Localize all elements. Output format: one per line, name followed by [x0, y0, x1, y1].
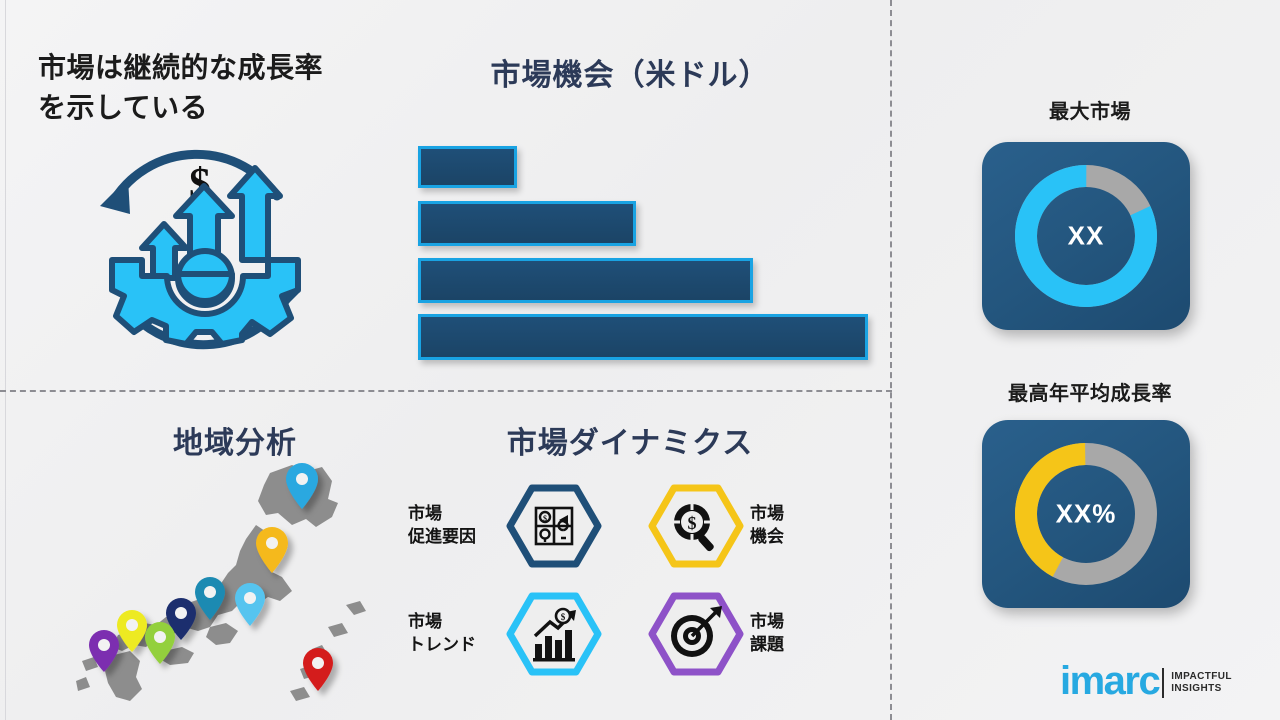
pin-okinawa: [303, 648, 333, 691]
highest-cagr-value: XX%: [982, 499, 1190, 530]
dynamics-item-trends[interactable]: 市場 トレンド $: [408, 592, 602, 676]
highest-cagr-card: XX%: [982, 420, 1190, 608]
dynamics-item-drivers[interactable]: 市場 促進要因 $: [408, 484, 602, 568]
svg-text:$: $: [543, 514, 547, 523]
left-edge-rule: [5, 0, 6, 720]
japan-map: [60, 455, 390, 710]
target-dart-icon: [648, 592, 744, 676]
growth-panel-title: 市場は継続的な成長率 を示している: [38, 48, 398, 128]
highest-cagr-title: 最高年平均成長率: [945, 377, 1235, 406]
dynamics-label-opportunities: 市場 機会: [750, 503, 784, 549]
dynamics-item-opportunities[interactable]: $ 市場 機会: [648, 484, 784, 568]
pin-chubu: [235, 583, 265, 626]
bar-chart-growth-icon: $: [506, 592, 602, 676]
opportunity-panel-title: 市場機会（米ドル）: [420, 50, 840, 94]
logo-divider: [1162, 668, 1164, 698]
puzzle-pieces-icon: $: [506, 484, 602, 568]
vertical-divider: [890, 0, 892, 720]
slide-canvas: 市場は継続的な成長率 を示している $: [0, 0, 1280, 720]
table-row: [418, 258, 753, 303]
logo-tagline: IMPACTFUL INSIGHTS: [1171, 671, 1232, 696]
growth-gear-arrows-icon: $: [72, 128, 327, 368]
dynamics-item-challenges[interactable]: 市場 課題: [648, 592, 784, 676]
dynamics-panel-title: 市場ダイナミクス: [420, 418, 840, 462]
table-row: [418, 201, 636, 246]
dynamics-label-drivers: 市場 促進要因: [408, 503, 500, 549]
table-row: [418, 146, 517, 188]
table-row: [418, 314, 868, 360]
svg-text:$: $: [688, 513, 697, 533]
market-opportunity-bar-chart: [418, 146, 878, 362]
largest-market-value: XX: [982, 221, 1190, 252]
svg-text:$: $: [561, 612, 566, 622]
dynamics-label-trends: 市場 トレンド: [408, 611, 500, 657]
dynamics-label-challenges: 市場 課題: [750, 611, 784, 657]
largest-market-title: 最大市場: [955, 95, 1225, 124]
logo-wordmark: imarc: [1060, 661, 1159, 701]
magnifier-dollar-icon: $: [648, 484, 744, 568]
largest-market-card: XX: [982, 142, 1190, 330]
imarc-logo: imarc IMPACTFUL INSIGHTS: [1060, 660, 1250, 706]
horizontal-divider: [0, 390, 892, 392]
